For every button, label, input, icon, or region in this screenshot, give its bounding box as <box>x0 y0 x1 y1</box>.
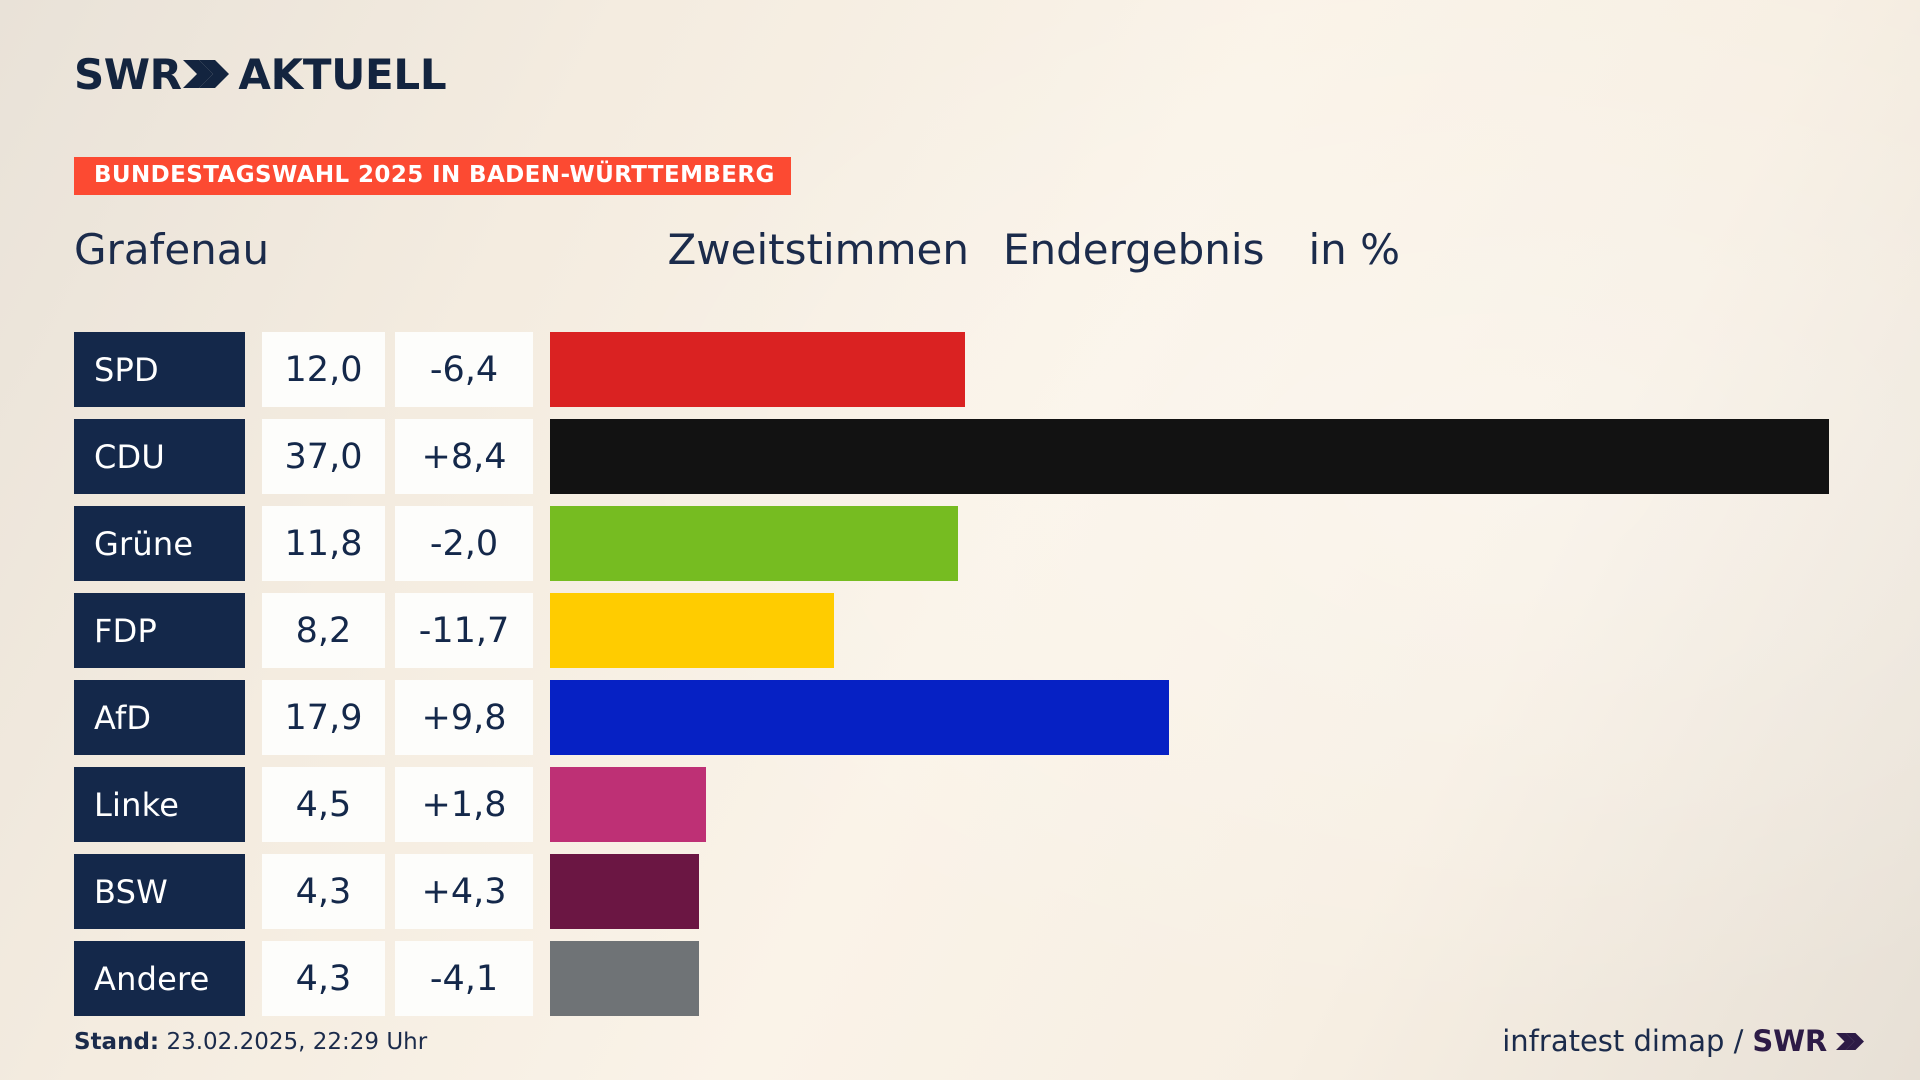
party-vote-change: -6,4 <box>395 332 533 407</box>
bar-track <box>550 506 1864 581</box>
bar-track <box>550 767 1864 842</box>
chart-row: FDP8,2-11,7 <box>74 593 1864 668</box>
result-type-label: Endergebnis <box>1003 225 1265 274</box>
source-chevron-icon <box>1836 1024 1864 1058</box>
party-bar <box>550 854 699 929</box>
party-vote-share: 11,8 <box>262 506 385 581</box>
party-bar <box>550 593 834 668</box>
source-text: infratest dimap / <box>1502 1024 1743 1058</box>
party-bar <box>550 332 965 407</box>
party-label: BSW <box>74 854 245 929</box>
bar-track <box>550 854 1864 929</box>
chart-row: Grüne11,8-2,0 <box>74 506 1864 581</box>
unit-label: in % <box>1308 225 1400 274</box>
stand-value: 23.02.2025, 22:29 Uhr <box>166 1029 427 1055</box>
party-vote-change: +9,8 <box>395 680 533 755</box>
party-bar <box>550 767 706 842</box>
bar-track <box>550 593 1864 668</box>
bar-track <box>550 941 1864 1016</box>
party-label: Andere <box>74 941 245 1016</box>
swr-aktuell-logo: SWR AKTUELL <box>74 52 446 98</box>
bar-track <box>550 680 1864 755</box>
source-swr-text: SWR <box>1752 1024 1827 1058</box>
vote-type-label: Zweitstimmen <box>668 225 969 274</box>
party-vote-change: +8,4 <box>395 419 533 494</box>
party-bar <box>550 506 958 581</box>
double-chevron-icon <box>183 59 229 92</box>
chart-row: CDU37,0+8,4 <box>74 419 1864 494</box>
party-label: CDU <box>74 419 245 494</box>
chart-row: SPD12,0-6,4 <box>74 332 1864 407</box>
stand-timestamp: Stand: 23.02.2025, 22:29 Uhr <box>74 1029 427 1055</box>
election-result-graphic: SWR AKTUELL BUNDESTAGSWAHL 2025 IN BADEN… <box>0 0 1920 1080</box>
party-vote-share: 4,3 <box>262 854 385 929</box>
party-vote-change: -2,0 <box>395 506 533 581</box>
region-title: Grafenau <box>74 225 269 274</box>
chart-row: Andere4,3-4,1 <box>74 941 1864 1016</box>
logo-aktuell-text: AKTUELL <box>238 54 446 96</box>
party-bar <box>550 941 699 1016</box>
party-bar <box>550 680 1169 755</box>
chart-row: Linke4,5+1,8 <box>74 767 1864 842</box>
party-vote-change: +4,3 <box>395 854 533 929</box>
party-label: AfD <box>74 680 245 755</box>
party-vote-change: -4,1 <box>395 941 533 1016</box>
party-bar <box>550 419 1829 494</box>
party-label: Linke <box>74 767 245 842</box>
party-vote-share: 8,2 <box>262 593 385 668</box>
party-vote-share: 4,5 <box>262 767 385 842</box>
party-vote-share: 37,0 <box>262 419 385 494</box>
party-vote-change: +1,8 <box>395 767 533 842</box>
party-vote-change: -11,7 <box>395 593 533 668</box>
party-label: Grüne <box>74 506 245 581</box>
bar-track <box>550 332 1864 407</box>
chart-row: BSW4,3+4,3 <box>74 854 1864 929</box>
party-vote-share: 17,9 <box>262 680 385 755</box>
party-label: FDP <box>74 593 245 668</box>
logo-swr-text: SWR <box>74 54 181 96</box>
results-bar-chart: SPD12,0-6,4CDU37,0+8,4Grüne11,8-2,0FDP8,… <box>74 332 1864 1028</box>
election-badge: BUNDESTAGSWAHL 2025 IN BADEN-WÜRTTEMBERG <box>74 157 791 195</box>
party-vote-share: 12,0 <box>262 332 385 407</box>
party-vote-share: 4,3 <box>262 941 385 1016</box>
stand-label: Stand: <box>74 1029 159 1055</box>
source-attribution: infratest dimap / SWR <box>1502 1024 1864 1058</box>
chart-subtitle: Zweitstimmen Endergebnis in % <box>668 225 1400 274</box>
party-label: SPD <box>74 332 245 407</box>
bar-track <box>550 419 1864 494</box>
chart-row: AfD17,9+9,8 <box>74 680 1864 755</box>
